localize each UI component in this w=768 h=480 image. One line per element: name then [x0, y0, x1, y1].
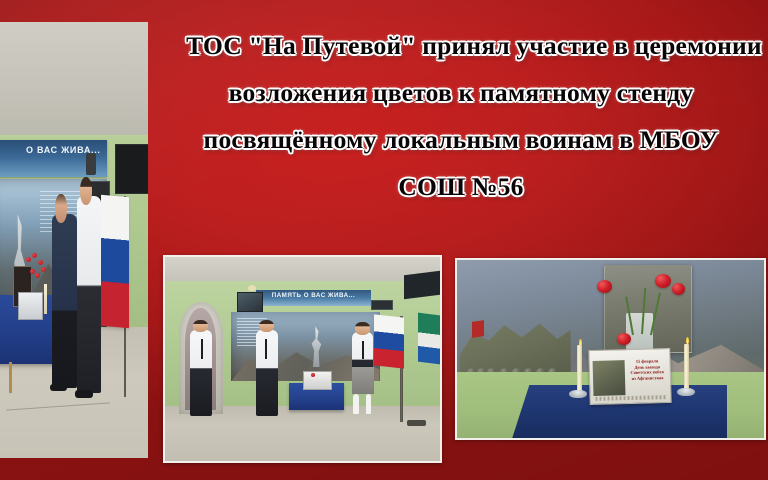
adult-shoe — [50, 384, 66, 391]
memorial-card — [18, 292, 44, 320]
carnation-right — [672, 283, 685, 295]
photo-left-ceremony: О ВАС ЖИВА... — [0, 22, 148, 458]
photo-left-scene: О ВАС ЖИВА... — [0, 22, 148, 458]
photo-right-scene: 15 февраля День вывода Советских войск и… — [457, 260, 764, 438]
student-left-tie — [201, 339, 203, 359]
candle-left — [577, 345, 582, 391]
mural-red-flag — [472, 320, 484, 338]
student-right-sock-left — [353, 394, 359, 414]
table-leg — [9, 362, 12, 393]
wall-speaker — [86, 153, 96, 175]
ceiling — [0, 22, 148, 144]
adult-man-head — [55, 194, 68, 222]
banner-caption: ПАМЯТЬ О ВАС ЖИВА... — [256, 292, 372, 299]
memorial-card — [303, 371, 333, 389]
placard-footer-text — [595, 395, 665, 401]
headline-line-1: ТОС "На Путевой" принял участие в церемо… — [176, 22, 768, 69]
student-middle-tie — [265, 339, 267, 359]
picture-lamp — [248, 285, 256, 291]
candle-left-holder — [569, 390, 587, 398]
framed-picture — [237, 292, 264, 312]
headline-line-3: посвящённому локальным воинам в МБОУ — [150, 116, 768, 163]
placard-photo — [593, 360, 626, 396]
wall-tv — [115, 144, 148, 194]
placard-text: 15 февраля День вывода Советских войск и… — [626, 358, 668, 381]
headline-line-4: СОШ №56 — [150, 163, 768, 210]
poster-canvas: ТОС "На Путевой" принял участие в церемо… — [0, 0, 768, 480]
student-right-tie — [362, 341, 364, 359]
candle-right-flame — [686, 337, 689, 344]
russian-flag — [101, 195, 129, 328]
student-right-head — [355, 322, 370, 334]
russian-flag — [374, 315, 404, 369]
memorial-placard: 15 февраля День вывода Советских войск и… — [588, 348, 671, 406]
candle-right — [684, 344, 689, 390]
student-shoe — [75, 390, 93, 397]
candle-left-flame — [579, 339, 582, 346]
headline-line-2: возложения цветов к памятному стенду — [150, 69, 768, 116]
khakassia-flag — [418, 313, 440, 365]
photo-middle-scene: ПАМЯТЬ О ВАС ЖИВА... — [165, 257, 440, 461]
wall-plaque — [371, 300, 392, 310]
adult-man — [52, 214, 77, 388]
candle-right-holder — [677, 388, 695, 396]
page-title: ТОС "На Путевой" принял участие в церемо… — [150, 22, 768, 210]
wall-tv — [404, 271, 440, 300]
photo-right-memorial-table: 15 февраля День вывода Советских войск и… — [455, 258, 766, 440]
flag-stand — [407, 420, 426, 426]
placard-line-4: из Афганистана — [627, 375, 669, 382]
photo-middle-students: ПАМЯТЬ О ВАС ЖИВА... — [163, 255, 442, 463]
student-boy — [77, 196, 101, 392]
student-right-sock-right — [366, 394, 372, 414]
carnation-left — [597, 280, 612, 293]
candle-left — [44, 284, 46, 315]
carnation-front — [617, 333, 631, 345]
student-right-skirt — [352, 367, 374, 394]
student-middle-head — [259, 320, 274, 332]
student-left-head — [193, 320, 208, 332]
